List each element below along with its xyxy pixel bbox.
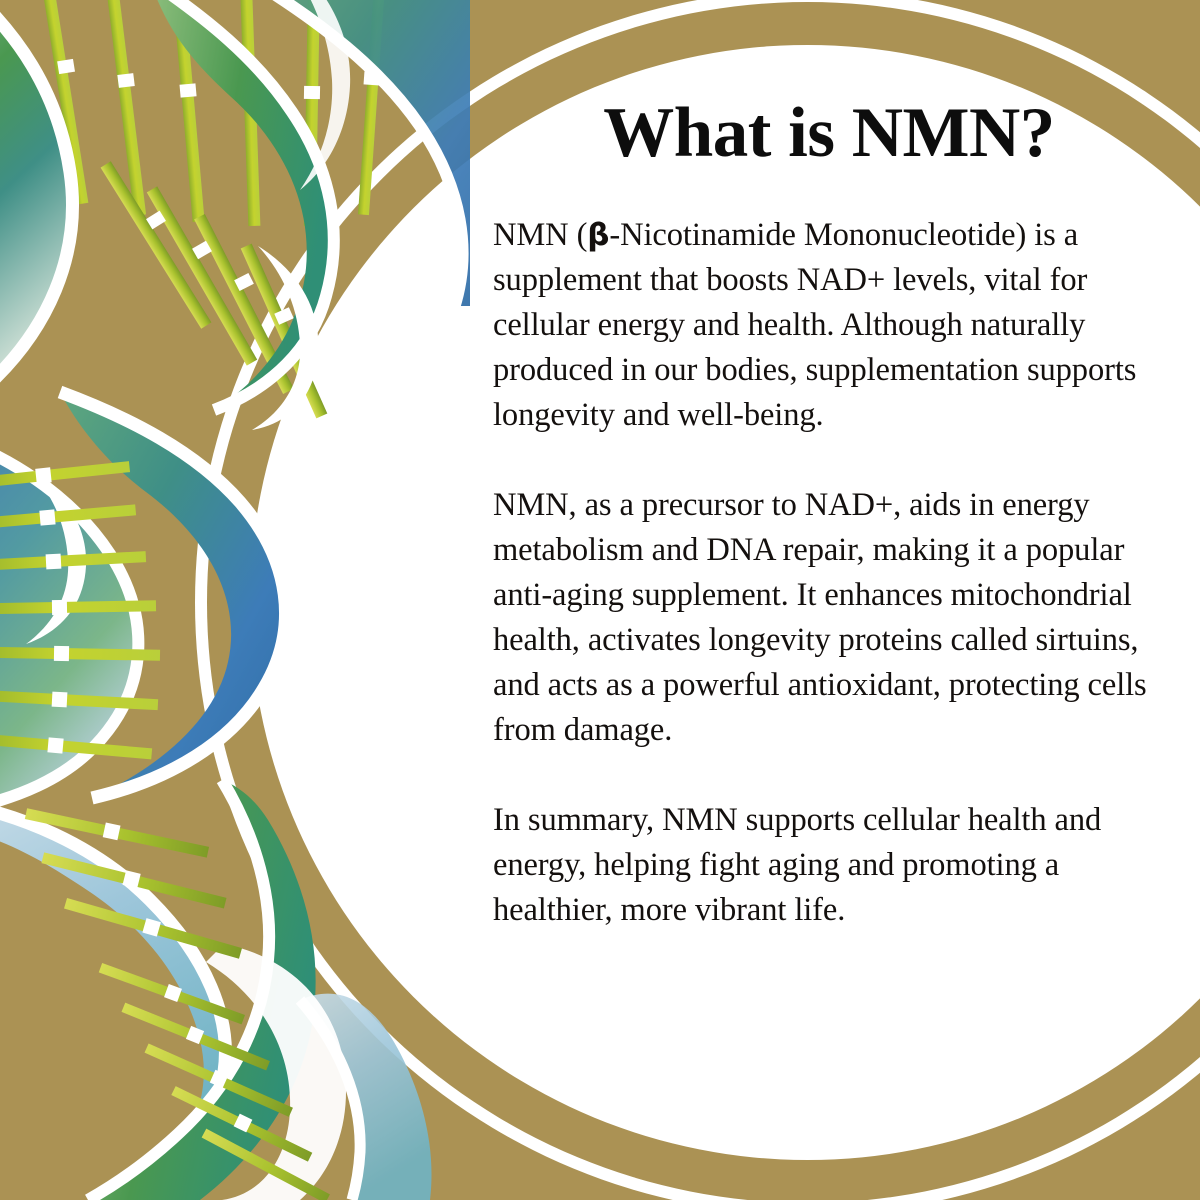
paragraph-intro: NMN (β-Nicotinamide Mononucleotide) is a…: [493, 213, 1183, 438]
content-column: What is NMN? NMN (β-Nicotinamide Mononuc…: [493, 98, 1183, 933]
paragraph-mechanism: NMN, as a precursor to NAD+, aids in ene…: [493, 483, 1183, 753]
beta-symbol: β: [587, 217, 609, 253]
intro-before-beta: NMN (: [493, 217, 587, 253]
paragraph-summary: In summary, NMN supports cellular health…: [493, 798, 1183, 933]
poster-canvas: What is NMN? NMN (β-Nicotinamide Mononuc…: [0, 0, 1200, 1200]
page-title: What is NMN?: [493, 98, 1183, 169]
